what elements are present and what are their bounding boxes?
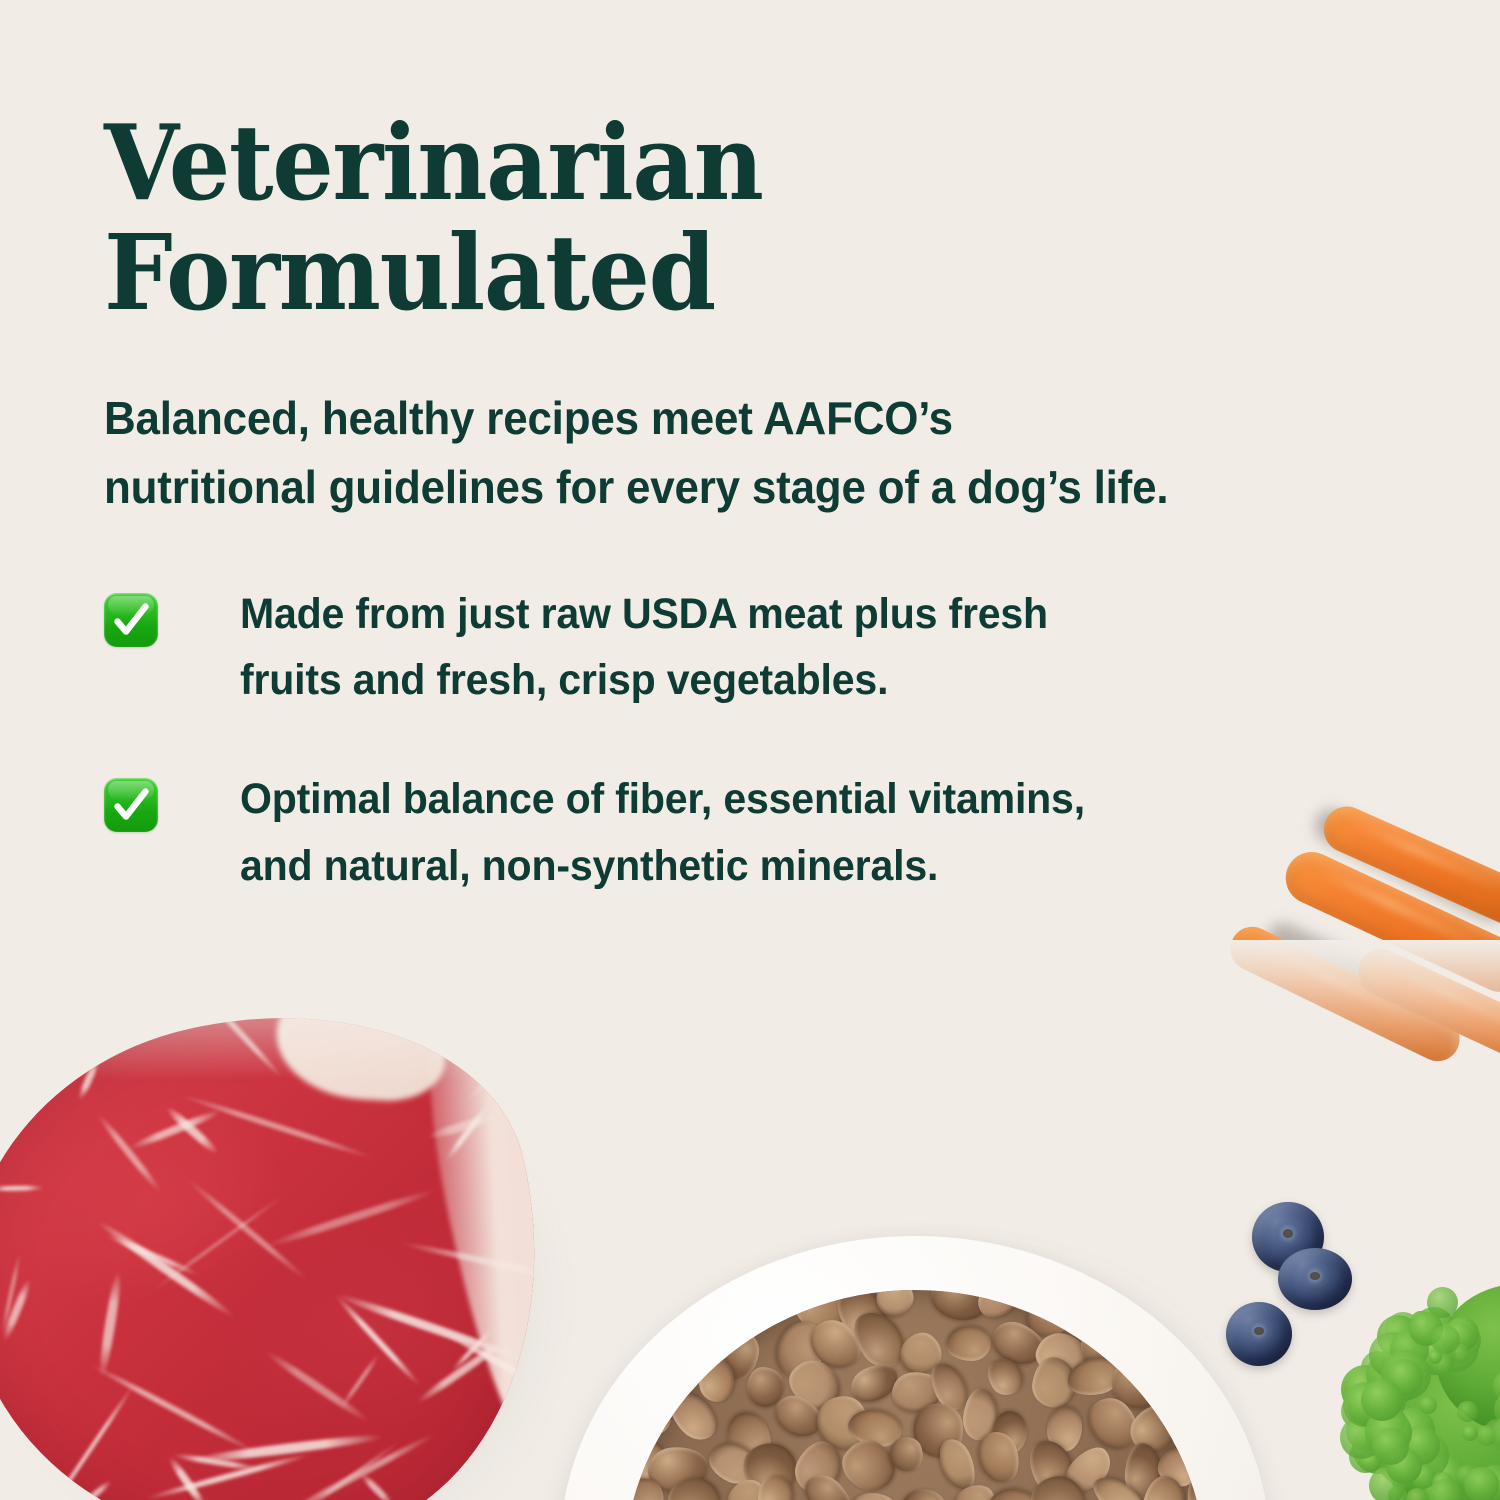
kibble-piece — [845, 1491, 898, 1500]
bowl-ceramic — [560, 1236, 1270, 1500]
kale-frill — [1484, 1419, 1500, 1445]
kale-frill — [1428, 1350, 1442, 1364]
steak-marbling — [545, 1226, 598, 1399]
kale-frill — [1493, 1369, 1500, 1403]
kale-frill — [1344, 1371, 1375, 1402]
kale-frill — [1377, 1315, 1420, 1358]
kibble-piece — [910, 1401, 966, 1462]
kale-frill — [1464, 1467, 1499, 1500]
kibble-piece — [1139, 1472, 1189, 1500]
steak-fat-rim — [401, 992, 597, 1488]
steak-marbling — [439, 1327, 582, 1410]
kale-frill — [1385, 1312, 1421, 1348]
steak-marbling — [0, 1252, 22, 1336]
steak-marbling — [97, 1270, 123, 1378]
kale-frill — [1433, 1355, 1454, 1376]
kibble-piece — [961, 1387, 999, 1442]
kibble-piece — [1156, 1445, 1202, 1488]
kale-frill — [1365, 1380, 1406, 1421]
steak-fat-cap — [273, 975, 449, 1104]
steak-marbling — [450, 1327, 495, 1373]
kibble-piece — [732, 1432, 807, 1500]
subhead-line-1: Balanced, healthy recipes meet AAFCO’s — [104, 384, 1403, 452]
kale-frill — [1432, 1472, 1454, 1494]
kale-frill — [1390, 1316, 1412, 1338]
steak-marbling — [76, 1057, 101, 1101]
kibble-piece — [1019, 1290, 1085, 1345]
kibble-piece — [1122, 1397, 1185, 1461]
kale-frill — [1406, 1488, 1429, 1500]
steak-marbling — [95, 1112, 164, 1194]
kibble-piece — [1074, 1315, 1138, 1379]
kibble-piece — [781, 1351, 849, 1416]
steak-marbling — [463, 1004, 573, 1104]
kibble-piece — [973, 1427, 1025, 1488]
kale-frill — [1494, 1391, 1500, 1428]
steak-marbling — [553, 1255, 597, 1394]
kale-frill — [1390, 1458, 1419, 1487]
photo-fade — [0, 940, 1500, 1080]
steak-body — [0, 962, 597, 1500]
kale-frill — [1400, 1369, 1421, 1390]
kale-frill — [1369, 1467, 1406, 1500]
kibble-piece — [992, 1411, 1027, 1453]
kale-frill — [1372, 1428, 1409, 1465]
kibble-piece — [1180, 1469, 1206, 1500]
kale-frill — [1411, 1311, 1430, 1330]
steak-shadow — [0, 996, 621, 1500]
list-item: Made from just raw USDA meat plus fresh … — [104, 587, 1444, 714]
blueberry-2 — [1278, 1248, 1352, 1310]
kibble-piece — [1020, 1465, 1095, 1500]
kale-frill — [1414, 1333, 1456, 1375]
kale-frill — [1374, 1414, 1424, 1464]
blueberry-1 — [1252, 1202, 1324, 1272]
kale-frill — [1390, 1330, 1429, 1369]
dog-food-bowl — [560, 1236, 1300, 1500]
kale-frill — [1401, 1426, 1440, 1465]
kale-frill — [1462, 1425, 1478, 1441]
kale-frill — [1349, 1440, 1382, 1473]
kale-frill — [1343, 1382, 1388, 1427]
kale-frill — [1380, 1448, 1415, 1483]
product-feature-card: Veterinarian Formulated Balanced, health… — [0, 0, 1500, 1500]
steak-marbling — [444, 1101, 492, 1162]
kale-frill — [1423, 1463, 1464, 1500]
steak-marbling — [300, 1439, 402, 1500]
kibble-piece — [788, 1290, 855, 1338]
kale-frill — [1386, 1448, 1422, 1484]
kale-frill — [1445, 1317, 1479, 1351]
kale-frill — [1411, 1465, 1435, 1489]
kale-frill — [1381, 1338, 1424, 1381]
list-item: Optimal balance of fiber, essential vita… — [104, 772, 1444, 899]
kale-frill — [1477, 1465, 1500, 1500]
bullet-1-text: Made from just raw USDA meat plus fresh … — [240, 581, 1048, 714]
kale-frill — [1451, 1344, 1470, 1363]
kale-frill — [1409, 1312, 1443, 1346]
kale-frill — [1426, 1317, 1448, 1339]
raw-steak — [0, 1020, 610, 1500]
kibble-piece — [758, 1475, 793, 1500]
kibble-piece — [890, 1369, 944, 1414]
kibble-piece — [699, 1357, 735, 1403]
kibble-piece — [624, 1471, 670, 1500]
kibble-piece — [892, 1325, 949, 1383]
kale-frill — [1347, 1383, 1390, 1426]
bullet-1-line-2: fruits and fresh, crisp vegetables. — [240, 647, 1048, 714]
kibble-piece — [1124, 1442, 1162, 1499]
steak-marbling — [359, 1472, 395, 1500]
steak-marbling — [507, 1421, 597, 1451]
kibble-piece — [1031, 1328, 1094, 1384]
kibble-fill — [624, 1290, 1206, 1500]
kale-frill — [1429, 1479, 1461, 1500]
kibble-piece — [703, 1436, 762, 1490]
kale-frill — [1355, 1385, 1406, 1436]
blueberry-3 — [1226, 1302, 1292, 1366]
steak-marbling — [263, 1348, 371, 1425]
bullet-2-line-2: and natural, non-synthetic minerals. — [240, 833, 1085, 900]
kibble-piece — [946, 1478, 1004, 1500]
kibble-piece — [767, 1314, 835, 1387]
subhead-line-2: nutritional guidelines for every stage o… — [104, 453, 1403, 521]
kibble-piece — [625, 1401, 672, 1438]
steak-marbling — [172, 1452, 260, 1472]
steak-marbling — [186, 1177, 309, 1282]
kibble-piece — [1064, 1354, 1124, 1400]
bullet-1-line-1: Made from just raw USDA meat plus fresh — [240, 581, 1048, 648]
steak-marbling — [104, 1232, 199, 1277]
kibble-piece — [1030, 1355, 1078, 1409]
kale-frill — [1441, 1322, 1474, 1355]
steak-marbling — [163, 1104, 220, 1157]
kale-frill — [1387, 1342, 1432, 1387]
kibble-piece — [885, 1433, 927, 1476]
bowl-shadow — [586, 1258, 1286, 1500]
steak-marbling — [264, 1187, 438, 1251]
kale-frill — [1377, 1351, 1408, 1382]
kale-frill — [1491, 1469, 1500, 1497]
subheadline: Balanced, healthy recipes meet AAFCO’s n… — [104, 384, 1403, 520]
kale-frill — [1427, 1287, 1458, 1318]
kibble-piece — [719, 1472, 777, 1500]
green-check-icon — [104, 593, 158, 647]
kale-frill — [1429, 1322, 1479, 1372]
steak-marbling — [189, 1432, 385, 1466]
kibble-piece — [834, 1431, 904, 1499]
bullet-2-text: Optimal balance of fiber, essential vita… — [240, 766, 1085, 899]
kibble-piece — [787, 1434, 849, 1500]
kale-frill — [1361, 1351, 1394, 1384]
steak-marbling — [88, 1361, 257, 1455]
kibble-piece — [624, 1434, 672, 1492]
kibble-piece — [1021, 1433, 1081, 1500]
kibble-piece — [844, 1303, 914, 1377]
kale-frill — [1393, 1432, 1412, 1451]
kibble-piece — [646, 1444, 710, 1494]
kale-frill — [1390, 1408, 1435, 1453]
kibble-piece — [1087, 1469, 1152, 1500]
kibble-piece — [845, 1357, 904, 1409]
headline-line-1: Veterinarian — [104, 108, 1350, 218]
kibble-piece — [924, 1357, 974, 1416]
steak-marbling — [150, 1193, 286, 1293]
steak-marbling — [75, 1479, 112, 1500]
kibble-piece — [661, 1384, 724, 1448]
carrot-4 — [1351, 942, 1500, 1077]
kale-frill — [1388, 1417, 1437, 1466]
kale-frill — [1413, 1307, 1455, 1349]
kibble-piece — [946, 1326, 991, 1361]
steak-marbling — [0, 1185, 44, 1191]
kale-frill — [1492, 1415, 1500, 1453]
kibble-piece — [807, 1386, 880, 1460]
kale-frill — [1388, 1404, 1413, 1429]
steak-marbling — [167, 1455, 209, 1500]
kibble-piece — [801, 1311, 869, 1378]
steak-marbling — [399, 1240, 597, 1291]
steak-marbling — [144, 1452, 311, 1500]
headline-line-2: Formulated — [104, 218, 1350, 328]
kibble-piece — [971, 1290, 1030, 1325]
benefit-list: Made from just raw USDA meat plus fresh … — [104, 587, 1444, 900]
kale-frill — [1345, 1370, 1381, 1406]
kale-frill — [1377, 1413, 1416, 1452]
steak-marbling — [520, 962, 597, 1144]
kale-frill — [1372, 1428, 1393, 1449]
kibble-piece — [747, 1367, 784, 1407]
kibble-piece — [933, 1434, 982, 1495]
kale-frill — [1394, 1370, 1418, 1394]
kale-frill — [1446, 1323, 1481, 1358]
kale-frill — [1419, 1396, 1437, 1414]
kale-frill — [1476, 1425, 1497, 1446]
kale-frill — [1386, 1359, 1423, 1396]
kibble-piece — [657, 1467, 731, 1500]
steak-marbling — [42, 1382, 137, 1500]
kibble-piece — [1057, 1440, 1119, 1500]
kibble-piece — [986, 1315, 1051, 1372]
kibble-piece — [828, 1290, 895, 1349]
steak-marbling — [334, 1291, 531, 1367]
steak-marbling — [178, 1092, 376, 1161]
kale-frill — [1391, 1378, 1415, 1402]
kale-frill — [1422, 1336, 1444, 1358]
kale-frill — [1457, 1401, 1478, 1422]
kibble-piece — [768, 1388, 829, 1445]
steak-marbling — [1, 1277, 34, 1342]
kale-frill — [1359, 1449, 1382, 1472]
kale-frill — [1341, 1365, 1390, 1414]
steak-marbling — [280, 1430, 438, 1500]
kale-frill — [1381, 1350, 1431, 1400]
page-title: Veterinarian Formulated — [104, 108, 1350, 328]
kibble-piece — [797, 1467, 860, 1500]
kibble-piece — [927, 1290, 994, 1326]
kale-frill — [1388, 1486, 1407, 1500]
kale-frill — [1425, 1477, 1454, 1500]
steak-marbling — [532, 1389, 598, 1398]
kibble-piece — [985, 1484, 1044, 1500]
kale-frill — [1414, 1329, 1460, 1375]
kibble-piece — [709, 1325, 762, 1384]
kale-frill — [1346, 1410, 1387, 1451]
steak-marbling — [333, 1293, 422, 1388]
kibble-piece — [981, 1351, 1030, 1401]
kibble-piece — [896, 1485, 951, 1500]
kale-frill — [1363, 1390, 1400, 1427]
kale-frill — [1427, 1456, 1465, 1494]
kibble-piece — [720, 1406, 778, 1469]
steak-marbling — [195, 985, 284, 1080]
kale-frill — [1365, 1409, 1412, 1456]
kale-frill — [1431, 1496, 1450, 1500]
kale-frill — [1431, 1325, 1460, 1354]
steak-marbling — [94, 1217, 236, 1320]
copy-block: Veterinarian Formulated Balanced, health… — [104, 108, 1444, 957]
steak-marbling — [426, 1111, 501, 1142]
kale-frill — [1381, 1361, 1407, 1387]
kale-frill — [1340, 1416, 1383, 1459]
kale-frill — [1400, 1431, 1449, 1480]
kale-frill — [1341, 1392, 1379, 1430]
steak-marbling — [414, 1336, 509, 1405]
kale-frill — [1386, 1457, 1406, 1477]
kale-frill — [1409, 1439, 1429, 1459]
kale-frill — [1366, 1385, 1387, 1406]
kale-frill — [1354, 1399, 1380, 1425]
kibble-piece — [1110, 1356, 1167, 1410]
green-check-icon — [104, 778, 158, 832]
kibble-piece — [870, 1290, 920, 1323]
kale-frill — [1352, 1422, 1404, 1474]
bullet-2-line-1: Optimal balance of fiber, essential vita… — [240, 766, 1085, 833]
kibble-piece — [845, 1406, 904, 1451]
kale-frill — [1456, 1465, 1478, 1487]
steak-marbling — [128, 1107, 223, 1152]
kale-frill — [1369, 1332, 1415, 1378]
kale-frill — [1375, 1405, 1406, 1436]
kale-frill — [1361, 1379, 1403, 1421]
kale — [1352, 1282, 1500, 1500]
kibble-piece — [1079, 1389, 1148, 1459]
kale-frill — [1386, 1365, 1422, 1401]
kale-frill — [1366, 1352, 1411, 1397]
steak-marbling — [339, 1353, 381, 1410]
kibble-piece — [1045, 1405, 1084, 1453]
